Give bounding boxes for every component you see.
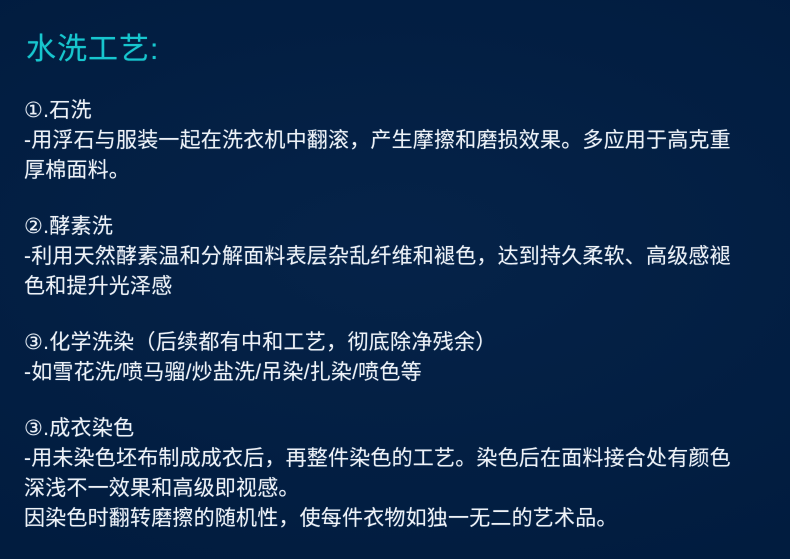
section-heading: ③.成衣染色 (24, 414, 748, 444)
section-body: -如雪花洗/喷马骝/炒盐洗/吊染/扎染/喷色等 (24, 358, 748, 388)
section-chemical-wash-dye: ③.化学洗染（后续都有中和工艺，彻底除净残余） -如雪花洗/喷马骝/炒盐洗/吊染… (24, 328, 756, 388)
slide-root: 水洗工艺: ①.石洗 -用浮石与服装一起在洗衣机中翻滚，产生摩擦和磨损效果。多应… (0, 0, 790, 559)
section-enzyme-wash: ②.酵素洗 -利用天然酵素温和分解面料表层杂乱纤维和褪色，达到持久柔软、高级感褪… (24, 212, 756, 302)
section-body-continued: 因染色时翻转磨擦的随机性，使每件衣物如独一无二的艺术品。 (24, 504, 748, 534)
section-stone-wash: ①.石洗 -用浮石与服装一起在洗衣机中翻滚，产生摩擦和磨损效果。多应用于高克重厚… (24, 96, 756, 186)
section-garment-dye: ③.成衣染色 -用未染色坯布制成成衣后，再整件染色的工艺。染色后在面料接合处有颜… (24, 414, 756, 534)
section-heading: ②.酵素洗 (24, 212, 748, 242)
section-body: -用未染色坯布制成成衣后，再整件染色的工艺。染色后在面料接合处有颜色深浅不一效果… (24, 444, 748, 504)
section-heading: ①.石洗 (24, 96, 748, 126)
section-body: -利用天然酵素温和分解面料表层杂乱纤维和褪色，达到持久柔软、高级感褪色和提升光泽… (24, 242, 748, 302)
slide-content: 水洗工艺: ①.石洗 -用浮石与服装一起在洗衣机中翻滚，产生摩擦和磨损效果。多应… (0, 0, 790, 534)
section-heading: ③.化学洗染（后续都有中和工艺，彻底除净残余） (24, 328, 748, 358)
page-title: 水洗工艺: (26, 30, 756, 70)
section-body: -用浮石与服装一起在洗衣机中翻滚，产生摩擦和磨损效果。多应用于高克重厚棉面料。 (24, 126, 748, 186)
